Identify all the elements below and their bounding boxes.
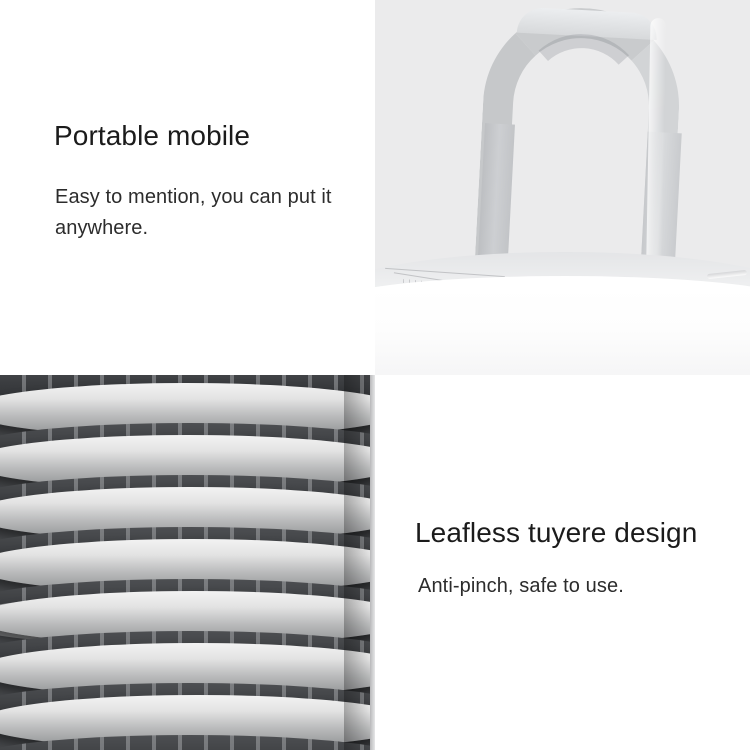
panel-heading-leafless-tuyere: Leafless tuyere design [415,519,697,547]
panel-subtext-leafless-tuyere: Anti-pinch, safe to use. [418,571,624,602]
product-feature-collage: Portable mobile Easy to mention, you can… [0,0,750,750]
grille-closeup [0,375,375,750]
panel-portable-mobile: Portable mobile Easy to mention, you can… [0,0,375,375]
panel-leafless-tuyere: Leafless tuyere design Anti-pinch, safe … [375,375,750,750]
product-photo-handle [375,0,750,375]
grille-edge-shadow [344,375,370,750]
panel-subtext-portable-mobile: Easy to mention, you can put it anywhere… [55,182,345,244]
panel-photo-grille [0,375,375,750]
device-body [375,288,750,375]
panel-photo-carry-handle [375,0,750,375]
panel-heading-portable-mobile: Portable mobile [54,122,250,150]
